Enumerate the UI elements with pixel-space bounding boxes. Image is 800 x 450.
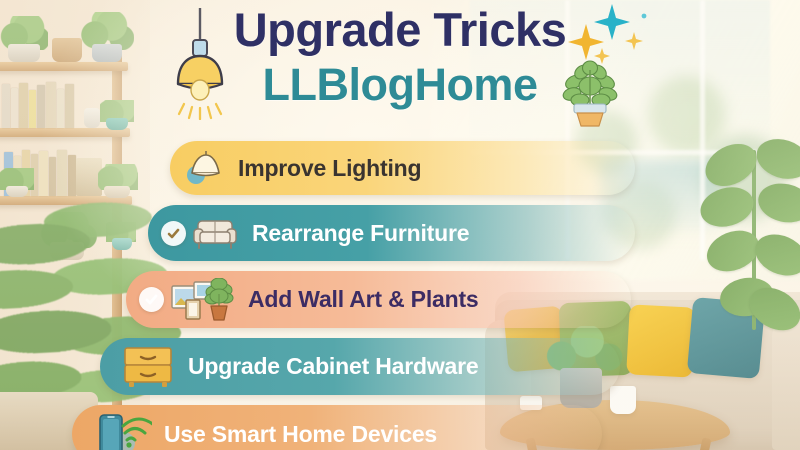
tip-label: Use Smart Home Devices (164, 421, 437, 448)
tip-label: Add Wall Art & Plants (248, 286, 479, 313)
page-title: Upgrade Tricks (0, 0, 800, 53)
smartphone-wifi-icon (96, 411, 152, 450)
sofa-icon (192, 215, 238, 251)
page-subtitle: LLBlogHome (0, 53, 800, 107)
tip-item-upgrade-cabinet-hardware[interactable]: Upgrade Cabinet Hardware (100, 338, 620, 395)
tip-label: Upgrade Cabinet Hardware (188, 353, 478, 380)
tip-item-use-smart-home-devices[interactable]: Use Smart Home Devices (72, 405, 602, 450)
lampshade-icon (184, 151, 224, 185)
check-icon (139, 287, 164, 312)
tip-item-add-wall-art-and-plants[interactable]: Add Wall Art & Plants (126, 271, 631, 328)
tip-item-improve-lighting[interactable]: Improve Lighting (170, 141, 635, 195)
tip-item-rearrange-furniture[interactable]: Rearrange Furniture (148, 205, 635, 261)
tip-label: Rearrange Furniture (252, 220, 469, 247)
tip-label: Improve Lighting (238, 155, 421, 182)
poster-canvas: Upgrade Tricks LLBlogHome (0, 0, 800, 450)
cabinet-drawers-icon (122, 345, 174, 389)
framed-art-and-plant-icon (170, 278, 236, 322)
potted-plant-icon (558, 56, 622, 128)
poster-header: Upgrade Tricks LLBlogHome (0, 0, 800, 132)
check-icon (161, 221, 186, 246)
title-block: Upgrade Tricks LLBlogHome (0, 0, 800, 107)
sparkles-icon (566, 2, 652, 64)
